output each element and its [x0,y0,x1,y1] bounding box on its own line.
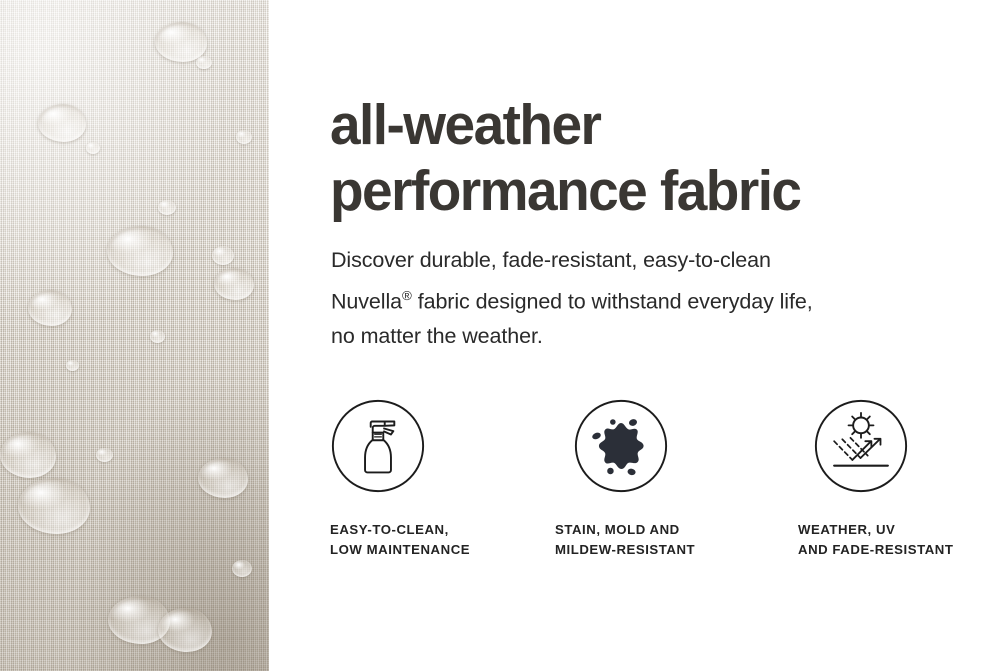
water-droplet [66,360,79,371]
water-droplet [96,448,113,462]
feature-caption: EASY-TO-CLEAN, LOW MAINTENANCE [330,520,470,559]
subcopy-line-1: Discover durable, fade-resistant, easy-t… [331,248,771,272]
feature-caption: STAIN, MOLD AND MILDEW-RESISTANT [555,520,695,559]
water-beading-fabric-photo [0,0,269,671]
feature-list: EASY-TO-CLEAN, LOW MAINTENANCE STAIN, MO… [330,398,1005,559]
brand-name: Nuvella [331,289,402,313]
water-droplet [158,200,176,215]
water-droplet [212,246,234,265]
water-droplet [28,290,72,326]
spray-bottle-icon [330,398,426,494]
subcopy-line-2: fabric designed to withstand everyday li… [412,289,813,313]
feature-item-easy-to-clean: EASY-TO-CLEAN, LOW MAINTENANCE [330,398,555,559]
promo-content: all-weather performance fabric Discover … [330,0,1005,671]
water-droplet [0,432,56,478]
fabric-lighting-overlay [0,0,269,671]
water-droplet [18,478,90,534]
feature-caption: WEATHER, UV AND FADE-RESISTANT [798,520,953,559]
water-droplet [158,608,212,652]
water-droplet [38,104,86,142]
water-droplet [196,56,212,69]
page-title: all-weather performance fabric [330,92,967,224]
feature-item-uv-fade-resistant: WEATHER, UV AND FADE-RESISTANT [780,398,1005,559]
promo-banner: all-weather performance fabric Discover … [0,0,1005,671]
water-droplet [236,130,252,144]
water-droplet [232,560,252,577]
water-droplet [107,226,173,276]
stain-splatter-icon [573,398,669,494]
subcopy-paragraph: Discover durable, fade-resistant, easy-t… [331,243,971,354]
water-droplet [198,458,248,498]
feature-item-stain-resistant: STAIN, MOLD AND MILDEW-RESISTANT [555,398,780,559]
water-droplet [150,330,165,343]
registered-trademark-icon: ® [402,288,412,303]
sun-uv-fade-icon [813,398,909,494]
subcopy-line-3: no matter the weather. [331,324,543,348]
water-droplet [214,268,254,300]
water-droplet [86,142,100,154]
